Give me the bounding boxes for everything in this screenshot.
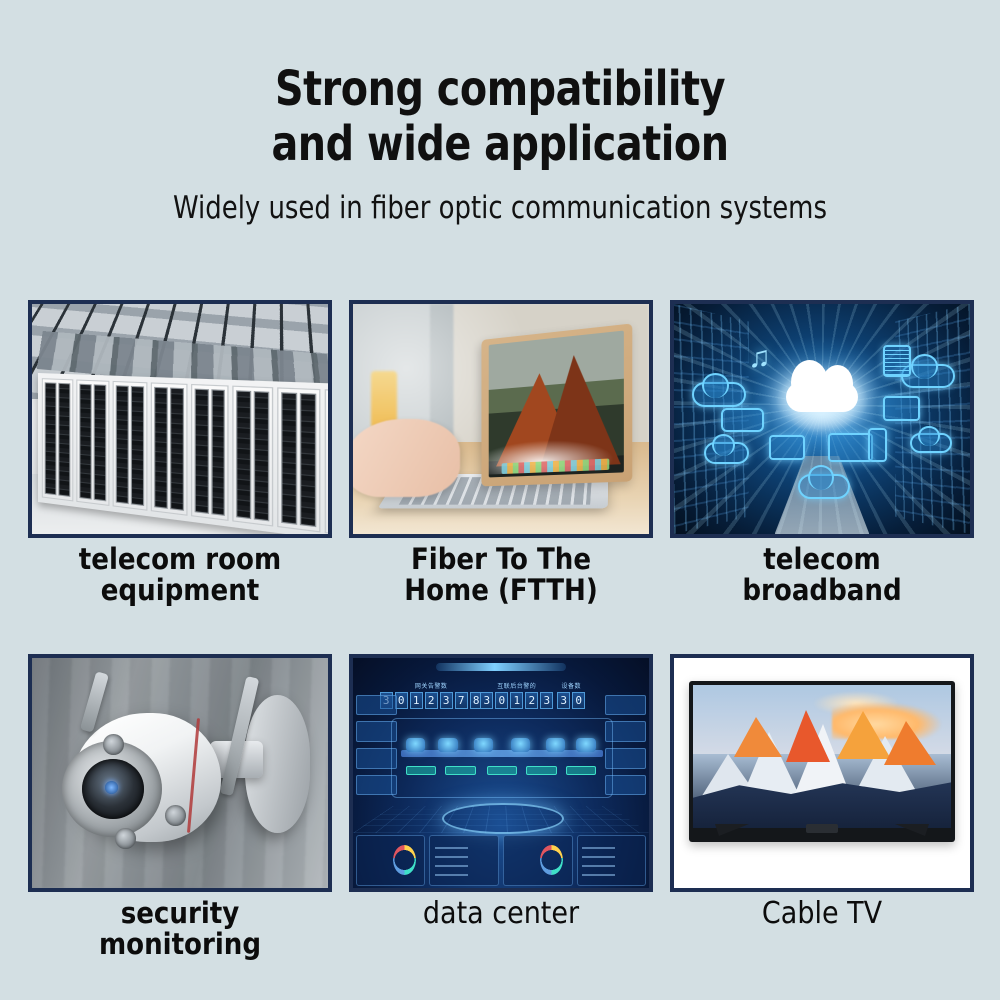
cloud-icon: [692, 382, 746, 407]
stat-lines: [435, 847, 469, 876]
dashboard-top-bar: [436, 663, 566, 671]
server-rack: [190, 384, 229, 521]
television-set: [689, 681, 955, 842]
card-caption-security-monitoring: security monitoring: [99, 898, 261, 959]
camera-icon: [769, 435, 806, 460]
laptop-screen: [489, 330, 624, 477]
stat-lines: [582, 847, 616, 876]
cloud-icon: [704, 442, 749, 464]
image-frame-cable-tv: [670, 654, 974, 892]
counter-label-1: 网关告警数: [415, 681, 448, 690]
flow-tag: [566, 766, 596, 775]
card-caption-cable-tv: Cable TV: [762, 898, 882, 930]
flow-tag: [526, 766, 556, 775]
server-icon: [883, 345, 911, 377]
counter-group-2: 互联后台警的 30123: [480, 681, 553, 709]
cloud-icon: [786, 382, 857, 412]
security-monitoring-image: [32, 658, 328, 888]
image-frame-security-monitoring: [28, 654, 332, 892]
server-rack: [42, 378, 73, 501]
counter-label-2: 互联后台警的: [497, 681, 536, 690]
server-rack: [150, 382, 187, 515]
application-grid-row-2: security monitoring 网关告警数 3012378 互联后台警的: [28, 654, 974, 959]
image-frame-telecom-room-equipment: [28, 300, 332, 538]
server-rack: [76, 379, 109, 505]
tv-brand-logo: [806, 824, 838, 833]
counter-digits-3: 30: [557, 692, 585, 709]
flow-node: [511, 738, 531, 752]
card-cable-tv: Cable TV: [670, 654, 974, 959]
page-title-line-2: and wide application: [40, 117, 960, 172]
bottom-panel: [429, 835, 499, 886]
card-caption-data-center: data center: [423, 898, 579, 930]
card-fiber-to-the-home: Fiber To The Home (FTTH): [349, 300, 653, 605]
promo-page: Strong compatibility and wide applicatio…: [0, 0, 1000, 1000]
page-header: Strong compatibility and wide applicatio…: [0, 62, 1000, 226]
data-center-image: 网关告警数 3012378 互联后台警的 30123 设备数: [353, 658, 649, 888]
application-grid-row-1: telecom room equipment: [28, 300, 974, 605]
telecom-broadband-image: ♫: [674, 304, 970, 534]
flow-panel: [391, 718, 612, 798]
card-security-monitoring: security monitoring: [28, 654, 332, 959]
card-telecom-room-equipment: telecom room equipment: [28, 300, 332, 605]
server-rack: [278, 387, 321, 532]
flow-node: [576, 738, 596, 752]
counter-label-3: 设备数: [561, 681, 581, 690]
music-note-icon: ♫: [748, 343, 775, 371]
tv-stand-leg: [715, 824, 749, 836]
card-telecom-broadband: ♫ telecom broadband: [670, 300, 974, 605]
donut-chart: [393, 845, 416, 875]
flow-node: [474, 738, 494, 752]
monitor-icon: [828, 433, 873, 462]
ir-led: [103, 734, 124, 755]
tv-stand-leg: [895, 824, 929, 836]
flow-tag: [487, 766, 517, 775]
flow-tag: [406, 766, 436, 775]
page-subtitle: Widely used in fiber optic communication…: [35, 190, 965, 226]
tablet-icon: [868, 428, 887, 462]
page-title-line-1: Strong compatibility: [40, 62, 960, 117]
donut-chart: [540, 845, 563, 875]
sunlit-peak: [786, 710, 830, 762]
server-rack: [325, 389, 328, 534]
typing-hand: [353, 419, 460, 497]
server-rack: [233, 386, 274, 527]
flow-bar: [401, 750, 603, 757]
flow-node: [546, 738, 566, 752]
camera-lens: [82, 759, 144, 819]
fiber-to-the-home-image: [353, 304, 649, 534]
image-frame-telecom-broadband: ♫: [670, 300, 974, 538]
image-frame-fiber-to-the-home: [349, 300, 653, 538]
card-caption-telecom-room-equipment: telecom room equipment: [79, 544, 281, 605]
chat-bubble-icon: [721, 408, 763, 433]
cloud-icon: [910, 433, 952, 453]
flow-node: [438, 738, 458, 752]
cable-tv-image: [674, 658, 970, 888]
cloud-icon: [798, 474, 849, 499]
server-rack: [112, 381, 147, 511]
ir-led: [165, 805, 186, 826]
sunlit-peak: [734, 717, 782, 757]
flow-node: [406, 738, 426, 752]
card-data-center: 网关告警数 3012378 互联后台警的 30123 设备数: [349, 654, 653, 959]
dashboard-bottom-panels: [356, 835, 646, 886]
card-caption-telecom-broadband: telecom broadband: [742, 544, 901, 605]
television-screen: [693, 685, 951, 828]
bottom-panel: [356, 835, 426, 886]
card-caption-fiber-to-the-home: Fiber To The Home (FTTH): [404, 544, 598, 605]
side-card: [605, 695, 646, 716]
page-title: Strong compatibility and wide applicatio…: [40, 62, 960, 172]
flow-tag: [445, 766, 475, 775]
bottom-panel: [503, 835, 573, 886]
sunlit-peak: [884, 721, 936, 765]
side-card: [356, 695, 397, 716]
telecom-room-equipment-image: [32, 304, 328, 534]
envelope-icon: [883, 396, 920, 421]
ir-led: [115, 828, 136, 849]
counter-group-3: 设备数 30: [557, 681, 585, 709]
bottom-panel: [577, 835, 647, 886]
image-frame-data-center: 网关告警数 3012378 互联后台警的 30123 设备数: [349, 654, 653, 892]
counter-digits-2: 30123: [480, 692, 553, 709]
laptop-lid: [482, 323, 633, 486]
